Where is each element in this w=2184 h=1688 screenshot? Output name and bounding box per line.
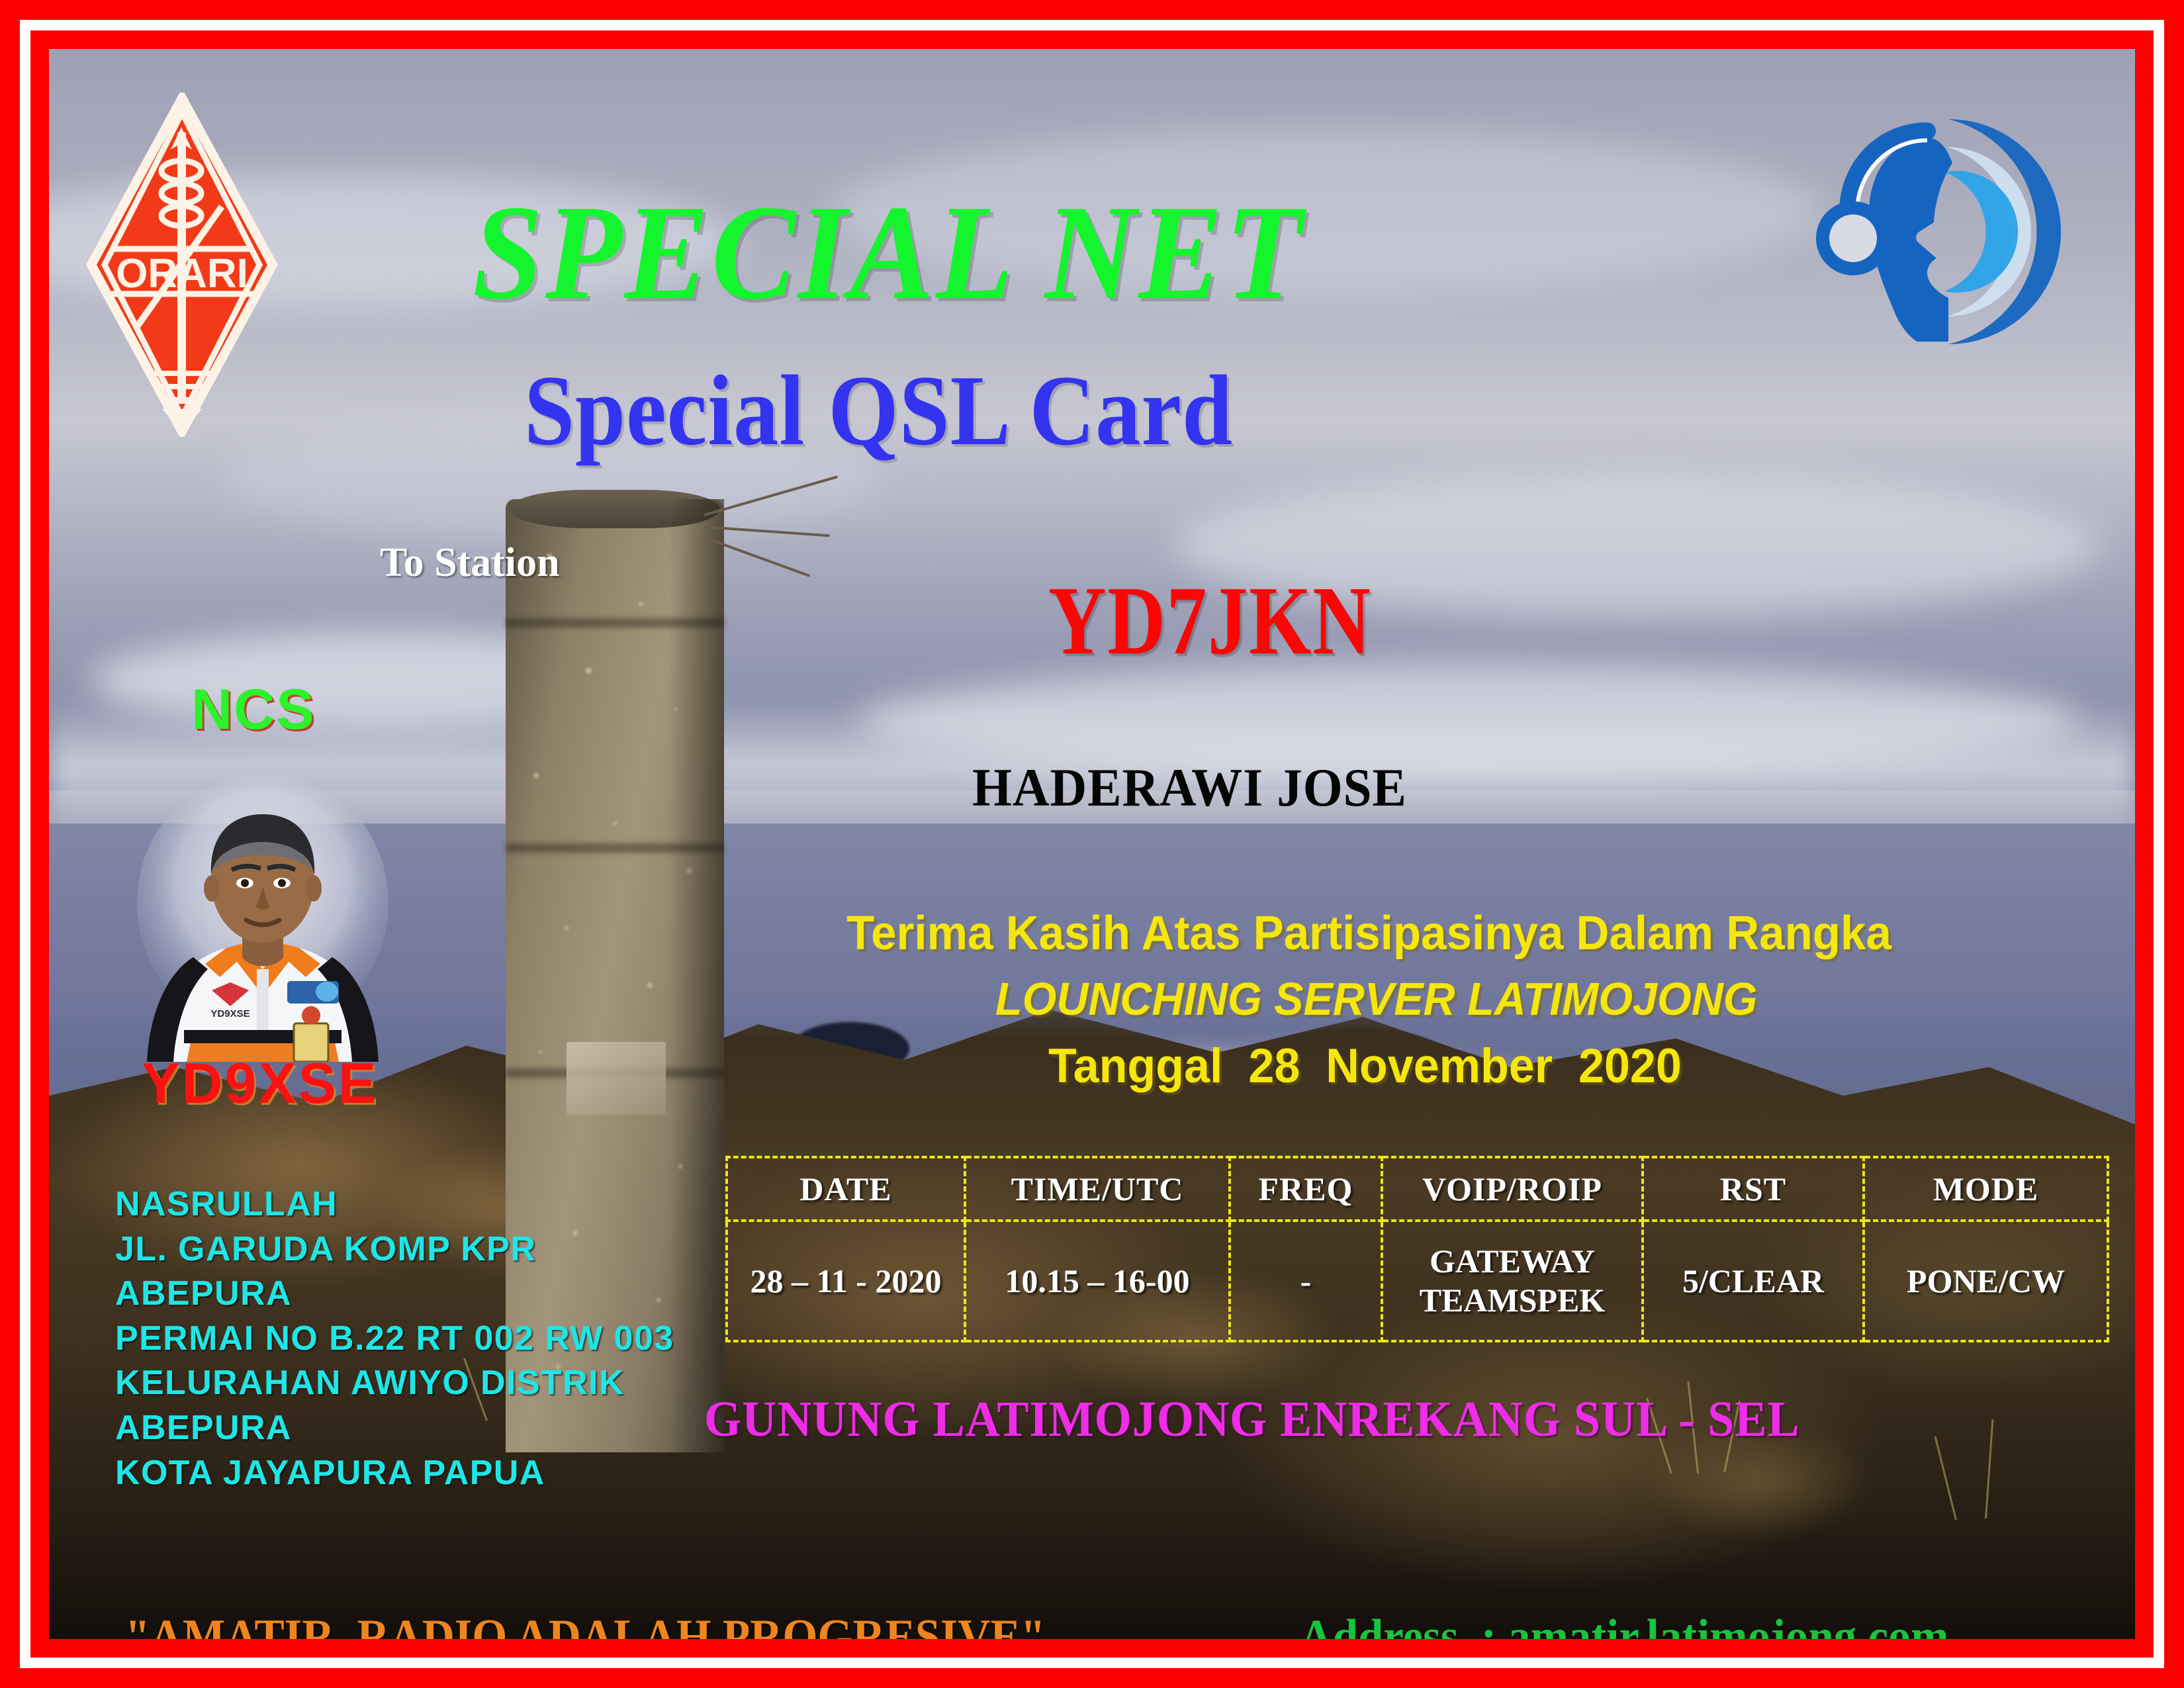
address-line: ABEPURA — [115, 1406, 674, 1451]
cell-rst: 5/CLEAR — [1643, 1221, 1864, 1341]
footer-motto: "AMATIR RADIO ADALAH PROGRESIVE" — [125, 1613, 1046, 1639]
ncs-operator-photo: YD9XSE — [120, 771, 405, 1062]
address-line: KOTA JAYAPURA PAPUA — [115, 1451, 674, 1496]
cell-time: 10.15 – 16-00 — [965, 1221, 1230, 1341]
headset-waves-icon — [1811, 99, 2075, 364]
event-date-line: Tanggal 28 November 2020 — [1048, 1042, 1682, 1090]
table-header-row: DATE TIME/UTC FREQ VOIP/ROIP RST MODE — [727, 1157, 2108, 1221]
recipient-callsign: YD7JKN — [1048, 572, 1372, 670]
address-line: NASRULLAH — [115, 1182, 674, 1227]
qsl-card: ORARI — [0, 0, 2184, 1688]
column-header-date: DATE — [727, 1157, 965, 1221]
ncs-label: NCS — [191, 681, 316, 738]
background-photo: ORARI — [49, 49, 2135, 1639]
orari-logo-text: ORARI — [116, 251, 248, 297]
orari-logo: ORARI — [86, 93, 278, 437]
column-header-time: TIME/UTC — [965, 1157, 1230, 1221]
column-header-rst: RST — [1643, 1157, 1864, 1221]
orari-diamond-icon: ORARI — [86, 93, 278, 437]
table-row: 28 – 11 - 2020 10.15 – 16-00 - GATEWAY T… — [727, 1221, 2108, 1341]
address-line: KELURAHAN AWIYO DISTRIK — [115, 1361, 674, 1406]
qso-details-table: DATE TIME/UTC FREQ VOIP/ROIP RST MODE 28… — [725, 1156, 2109, 1342]
page-title-special-net: SPECIAL NET — [473, 185, 1304, 320]
column-header-voip: VOIP/ROIP — [1382, 1157, 1643, 1221]
event-name-line: LOUNCHING SERVER LATIMOJONG — [995, 976, 1757, 1022]
sender-address-block: NASRULLAH JL. GARUDA KOMP KPR ABEPURA PE… — [115, 1182, 674, 1495]
location-text: GUNUNG LATIMOJONG ENREKANG SUL - SEL — [704, 1394, 1800, 1444]
operator-portrait-image: YD9XSE — [120, 771, 405, 1062]
cell-date: 28 – 11 - 2020 — [727, 1221, 965, 1341]
address-line: PERMAI NO B.22 RT 002 RW 003 — [115, 1317, 674, 1362]
operator-name: HADERAWI JOSE — [972, 761, 1407, 815]
ncs-callsign: YD9XSE — [142, 1055, 378, 1112]
cell-voip: GATEWAY TEAMSPEK — [1382, 1221, 1643, 1341]
column-header-mode: MODE — [1864, 1157, 2108, 1221]
page-subtitle-qsl-card: Special QSL Card — [524, 360, 1233, 461]
address-line: ABEPURA — [115, 1272, 674, 1317]
address-line: JL. GARUDA KOMP KPR — [115, 1227, 674, 1272]
shirt-callsign-patch: YD9XSE — [210, 1008, 250, 1019]
cell-freq: - — [1230, 1221, 1382, 1341]
footer-web-address: Address : amatir.latimojong.com — [1300, 1613, 1949, 1639]
cell-mode: PONE/CW — [1864, 1221, 2108, 1341]
thanks-message-line: Terima Kasih Atas Partisipasinya Dalam R… — [846, 910, 1891, 957]
headset-profile-logo — [1811, 99, 2075, 364]
column-header-freq: FREQ — [1230, 1157, 1382, 1221]
to-station-label: To Station — [380, 542, 560, 583]
